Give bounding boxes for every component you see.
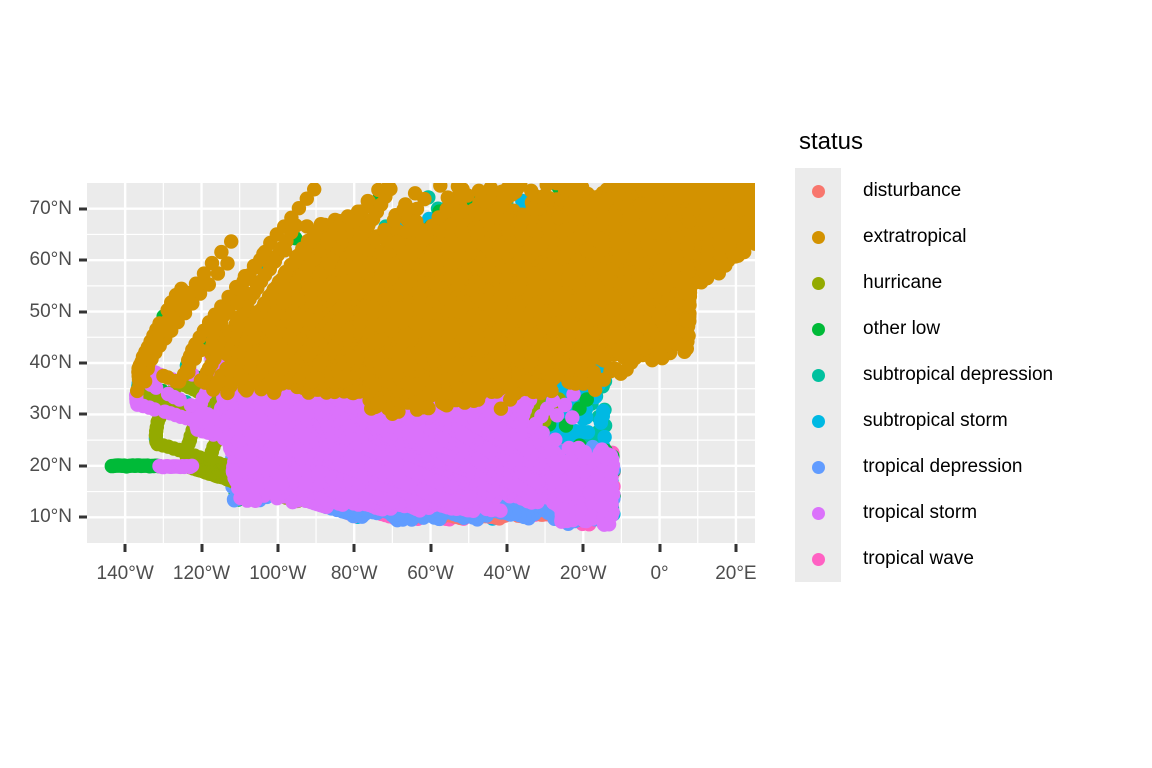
- legend-point-icon: [812, 369, 825, 382]
- legend-point-icon: [812, 277, 825, 290]
- x-tick-mark: [276, 544, 279, 552]
- x-tick-mark: [124, 544, 127, 552]
- legend-item-hurricane[interactable]: hurricane: [795, 260, 1145, 306]
- x-axis-tick-labels: 140°W120°W100°W80°W60°W40°W20°W0°20°E: [87, 557, 755, 587]
- legend-key-swatch: [795, 398, 841, 444]
- y-tick-mark: [79, 516, 87, 519]
- y-tick-mark: [79, 464, 87, 467]
- legend-item-label: disturbance: [863, 180, 961, 202]
- legend-key-swatch: [795, 260, 841, 306]
- legend-item-label: tropical depression: [863, 456, 1022, 478]
- legend-item-other-low[interactable]: other low: [795, 306, 1145, 352]
- x-tick-mark: [734, 544, 737, 552]
- x-tick-label: 140°W: [97, 563, 154, 585]
- legend-item-label: hurricane: [863, 272, 942, 294]
- legend-point-icon: [812, 507, 825, 520]
- x-tick-label: 20°E: [715, 563, 756, 585]
- y-axis-tick-marks: [75, 183, 87, 543]
- legend-item-label: subtropical storm: [863, 410, 1008, 432]
- y-tick-label: 50°N: [30, 301, 72, 323]
- legend-key-swatch: [795, 444, 841, 490]
- y-tick-mark: [79, 413, 87, 416]
- legend-key-swatch: [795, 352, 841, 398]
- legend-key-swatch: [795, 306, 841, 352]
- legend-point-icon: [812, 553, 825, 566]
- scatter-plot-figure: 70°N60°N50°N40°N30°N20°N10°N 140°W120°W1…: [0, 0, 1152, 768]
- y-tick-label: 60°N: [30, 249, 72, 271]
- legend-key-swatch: [795, 490, 841, 536]
- x-tick-label: 100°W: [249, 563, 306, 585]
- legend-key-swatch: [795, 536, 841, 582]
- series-extratropical: [130, 183, 755, 421]
- data-points-layer: [87, 183, 755, 543]
- legend-item-label: other low: [863, 318, 940, 340]
- y-tick-label: 30°N: [30, 403, 72, 425]
- x-tick-mark: [429, 544, 432, 552]
- legend-point-icon: [812, 231, 825, 244]
- legend-point-icon: [812, 185, 825, 198]
- legend-item-tropical-storm[interactable]: tropical storm: [795, 490, 1145, 536]
- x-tick-mark: [658, 544, 661, 552]
- x-tick-label: 0°: [650, 563, 668, 585]
- legend-point-icon: [812, 323, 825, 336]
- legend-item-subtropical-storm[interactable]: subtropical storm: [795, 398, 1145, 444]
- legend-item-subtropical-depression[interactable]: subtropical depression: [795, 352, 1145, 398]
- y-tick-mark: [79, 259, 87, 262]
- legend-title: status: [799, 130, 1145, 154]
- x-tick-label: 20°W: [560, 563, 607, 585]
- y-tick-label: 70°N: [30, 198, 72, 220]
- legend-item-extratropical[interactable]: extratropical: [795, 214, 1145, 260]
- x-tick-label: 60°W: [407, 563, 454, 585]
- y-tick-mark: [79, 362, 87, 365]
- x-axis-tick-marks: [87, 544, 755, 556]
- y-tick-label: 10°N: [30, 506, 72, 528]
- legend-item-disturbance[interactable]: disturbance: [795, 168, 1145, 214]
- legend-item-tropical-depression[interactable]: tropical depression: [795, 444, 1145, 490]
- legend-item-label: subtropical depression: [863, 364, 1053, 386]
- legend-items: disturbanceextratropicalhurricaneother l…: [795, 168, 1145, 582]
- x-tick-mark: [353, 544, 356, 552]
- legend-item-tropical-wave[interactable]: tropical wave: [795, 536, 1145, 582]
- plot-panel: [87, 183, 755, 543]
- legend-item-label: tropical wave: [863, 548, 974, 570]
- y-tick-label: 40°N: [30, 352, 72, 374]
- x-tick-mark: [582, 544, 585, 552]
- x-tick-label: 80°W: [331, 563, 378, 585]
- legend-key-swatch: [795, 214, 841, 260]
- y-tick-mark: [79, 207, 87, 210]
- legend: status disturbanceextratropicalhurricane…: [795, 130, 1145, 582]
- legend-point-icon: [812, 415, 825, 428]
- y-tick-mark: [79, 310, 87, 313]
- x-tick-mark: [505, 544, 508, 552]
- legend-point-icon: [812, 461, 825, 474]
- x-tick-mark: [200, 544, 203, 552]
- legend-key-swatch: [795, 168, 841, 214]
- y-axis-tick-labels: 70°N60°N50°N40°N30°N20°N10°N: [0, 183, 72, 543]
- legend-item-label: tropical storm: [863, 502, 977, 524]
- x-tick-label: 120°W: [173, 563, 230, 585]
- legend-item-label: extratropical: [863, 226, 967, 248]
- y-tick-label: 20°N: [30, 455, 72, 477]
- x-tick-label: 40°W: [484, 563, 531, 585]
